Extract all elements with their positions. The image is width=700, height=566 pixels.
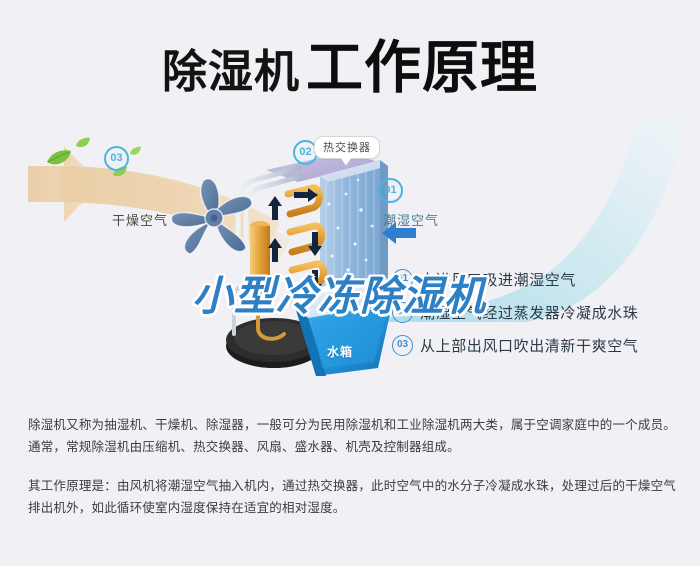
heat-exchanger-callout: 热交换器 [314, 136, 380, 159]
step-number: 02 [392, 302, 413, 323]
water-tank-diagram [218, 276, 418, 386]
list-item: 03 从上部出风口吹出清新干爽空气 [392, 330, 692, 360]
page-title-primary: 除湿机 [162, 46, 300, 97]
step-text: 从上部出风口吹出清新干爽空气 [420, 335, 638, 356]
list-item: 01 由进风口吸进潮湿空气 [392, 264, 692, 294]
step-number: 03 [392, 335, 413, 356]
page-title-secondary: 工作原理 [306, 36, 538, 100]
body-copy: 除湿机又称为抽湿机、干燥机、除湿器，一般可分为民用除湿机和工业除湿机两大类，属于… [28, 414, 676, 519]
step-text: 潮湿空气经过蒸发器冷凝成水珠 [420, 302, 638, 323]
steps-list: 01 由进风口吸进潮湿空气 02 潮湿空气经过蒸发器冷凝成水珠 03 从上部出风… [392, 264, 692, 363]
diagram-badge-03: 03 [104, 146, 129, 171]
humid-air-label: 潮湿空气 [383, 210, 439, 229]
dry-air-label: 干燥空气 [112, 210, 168, 229]
leaf-icon [129, 146, 142, 156]
paragraph-1: 除湿机又称为抽湿机、干燥机、除湿器，一般可分为民用除湿机和工业除湿机两大类，属于… [28, 414, 676, 458]
leaf-icon [75, 137, 91, 149]
leaf-icon [46, 149, 72, 167]
list-item: 02 潮湿空气经过蒸发器冷凝成水珠 [392, 297, 692, 327]
step-number: 01 [392, 269, 413, 290]
water-tank-label: 水箱 [327, 343, 353, 360]
diagram-badge-01: 01 [378, 178, 403, 203]
step-text: 由进风口吸进潮湿空气 [420, 269, 576, 290]
paragraph-2: 其工作原理是：由风机将潮湿空气抽入机内，通过热交换器，此时空气中的水分子冷凝成水… [28, 475, 676, 519]
fan-icon [160, 166, 268, 274]
page-root: 除湿机工作原理 [0, 0, 700, 566]
page-title: 除湿机工作原理 [0, 22, 700, 104]
